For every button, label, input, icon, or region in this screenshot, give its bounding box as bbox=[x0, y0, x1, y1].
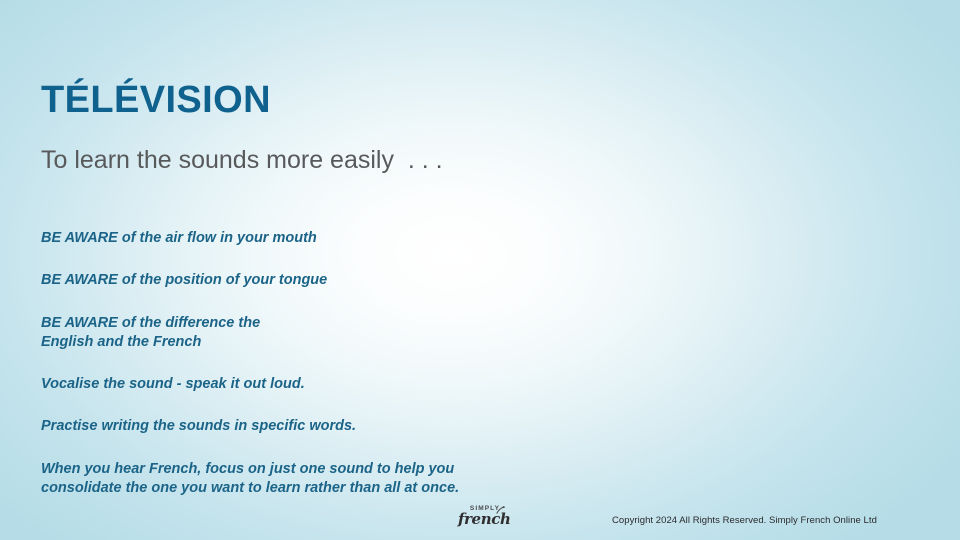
list-item: BE AWARE of the air flow in your mouth bbox=[41, 229, 641, 248]
logo-flourish-icon bbox=[496, 506, 505, 515]
list-item: Practise writing the sounds in specific … bbox=[41, 417, 641, 436]
copyright-notice: Copyright 2024 All Rights Reserved. Simp… bbox=[612, 515, 877, 526]
list-item: BE AWARE of the difference the English a… bbox=[41, 314, 641, 353]
slide-subtitle: To learn the sounds more easily . . . bbox=[41, 146, 443, 175]
simply-french-logo: SIMPLY french bbox=[458, 506, 508, 534]
slide-canvas: TÉLÉVISION To learn the sounds more easi… bbox=[0, 0, 960, 540]
list-item: BE AWARE of the position of your tongue bbox=[41, 271, 641, 290]
body-text-block: BE AWARE of the air flow in your mouth B… bbox=[41, 229, 641, 498]
page-title: TÉLÉVISION bbox=[41, 81, 271, 121]
list-item: When you hear French, focus on just one … bbox=[41, 460, 641, 499]
list-item: Vocalise the sound - speak it out loud. bbox=[41, 375, 641, 394]
